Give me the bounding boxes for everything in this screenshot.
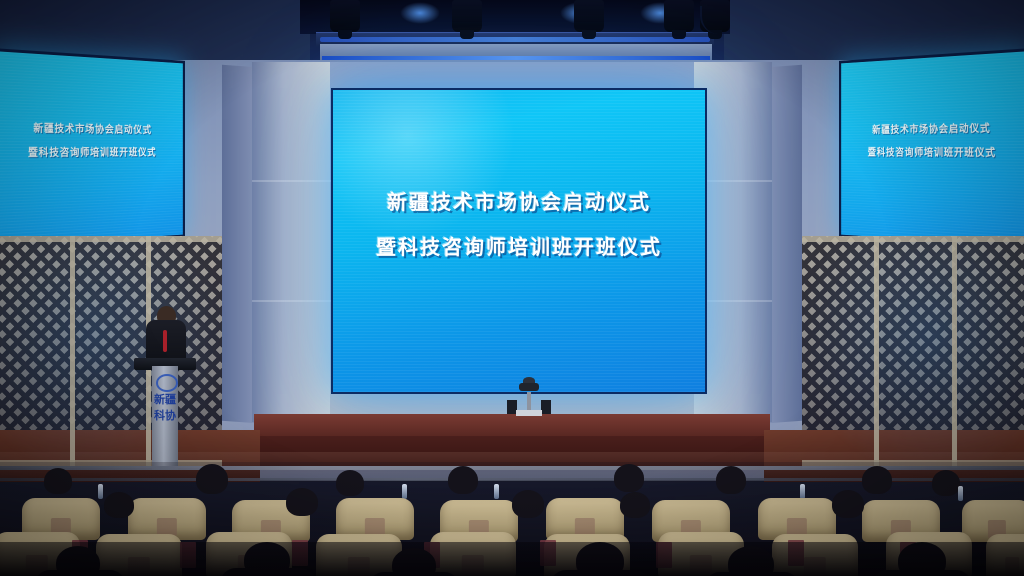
association-logo-icon	[156, 374, 178, 392]
attendee-head	[286, 488, 318, 516]
stage-light-icon	[664, 0, 694, 32]
podium-vertical-text: 新疆科协	[152, 392, 178, 424]
lanyard	[163, 330, 167, 352]
water-bottle	[98, 484, 103, 499]
tripod-base	[516, 410, 542, 416]
attendee-head	[862, 466, 892, 494]
attendee-head	[512, 490, 544, 518]
conference-hall-scene: 新疆技术市场协会启动仪式 暨科技咨询师培训班开班仪式 新疆技术市场协会启动仪式 …	[0, 0, 1024, 576]
main-screen-line1: 新疆技术市场协会启动仪式	[333, 186, 705, 215]
main-screen-text: 新疆技术市场协会启动仪式 暨科技咨询师培训班开班仪式	[333, 186, 705, 260]
lattice-frame-top	[802, 236, 1024, 242]
left-screen-text: 新疆技术市场协会启动仪式 暨科技咨询师培训班开班仪式	[0, 119, 183, 160]
water-bottle	[800, 484, 805, 499]
lattice-mullion	[952, 236, 957, 468]
attendee-head	[196, 464, 228, 494]
tripod-post	[527, 392, 531, 412]
right-screen-line2: 暨科技咨询师培训班开班仪式	[841, 144, 1024, 160]
lattice-mullion	[70, 236, 75, 468]
truss-light-bar	[320, 37, 710, 42]
attendee-head	[832, 490, 864, 518]
right-led-screen[interactable]: 新疆技术市场协会启动仪式 暨科技咨询师培训班开班仪式	[839, 48, 1024, 250]
attendee-head	[104, 492, 134, 518]
water-bottle	[958, 486, 963, 501]
left-screen-line1: 新疆技术市场协会启动仪式	[0, 119, 183, 137]
stage-light-glow	[400, 2, 440, 24]
attendee-head	[716, 466, 746, 494]
attendee-head	[620, 492, 650, 518]
water-bottle	[402, 484, 407, 499]
stage-light-icon	[574, 0, 604, 32]
pillar-left	[252, 62, 330, 422]
water-bottle	[494, 484, 499, 499]
lattice-mullion	[874, 236, 879, 468]
main-led-screen[interactable]: 新疆技术市场协会启动仪式 暨科技咨询师培训班开班仪式	[331, 88, 707, 394]
right-screen-text: 新疆技术市场协会启动仪式 暨科技咨询师培训班开班仪式	[841, 119, 1024, 160]
monitor-speaker-right	[541, 400, 551, 414]
camera-head-icon	[519, 383, 539, 391]
lattice-frame-top	[0, 236, 222, 242]
left-led-screen[interactable]: 新疆技术市场协会启动仪式 暨科技咨询师培训班开班仪式	[0, 48, 185, 250]
stage-light-icon	[330, 0, 360, 32]
ambient-glow-right	[794, 240, 1024, 480]
stage-light-icon	[452, 0, 482, 32]
hanging-cable	[700, 6, 738, 34]
foreground-shadow	[0, 542, 1024, 576]
attendee-head	[336, 470, 364, 496]
audience-area	[0, 462, 1024, 576]
attendee-head	[614, 464, 644, 492]
main-screen-line2: 暨科技咨询师培训班开班仪式	[333, 231, 705, 260]
attendee-head	[44, 468, 72, 494]
attendee-head	[448, 466, 478, 494]
right-screen-line1: 新疆技术市场协会启动仪式	[841, 119, 1024, 137]
left-screen-line2: 暨科技咨询师培训班开班仪式	[0, 144, 183, 160]
attendee-head	[932, 470, 960, 496]
